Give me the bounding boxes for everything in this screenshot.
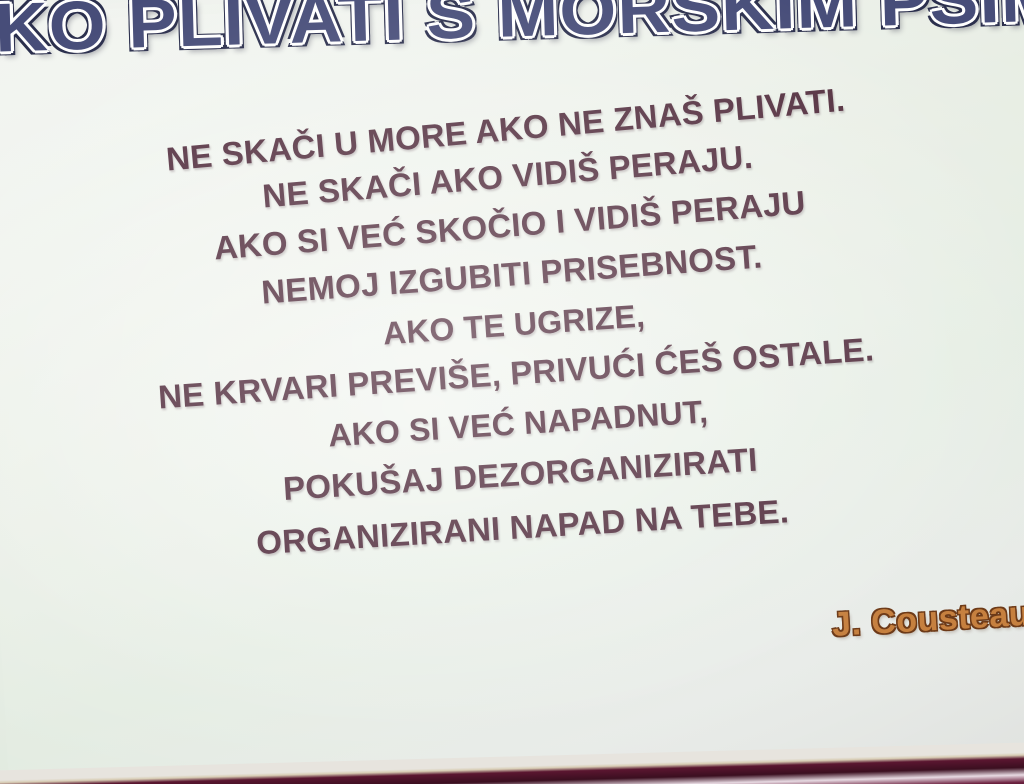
projection-screen-surface: BITI RAVNATELJ KAKO PLIVATI S MORSKIM PS… — [0, 0, 1024, 784]
slide-headline: KAKO PLIVATI S MORSKIM PSIMA — [0, 0, 1024, 66]
slide-attribution: J. Cousteau — [831, 595, 1024, 645]
slide-body: NE SKAČI U MORE AKO NE ZNAŠ PLIVATI. NE … — [0, 88, 1024, 568]
presentation-slide: BITI RAVNATELJ KAKO PLIVATI S MORSKIM PS… — [0, 0, 1024, 784]
photo-of-projection-screen: BITI RAVNATELJ KAKO PLIVATI S MORSKIM PS… — [0, 0, 1024, 784]
